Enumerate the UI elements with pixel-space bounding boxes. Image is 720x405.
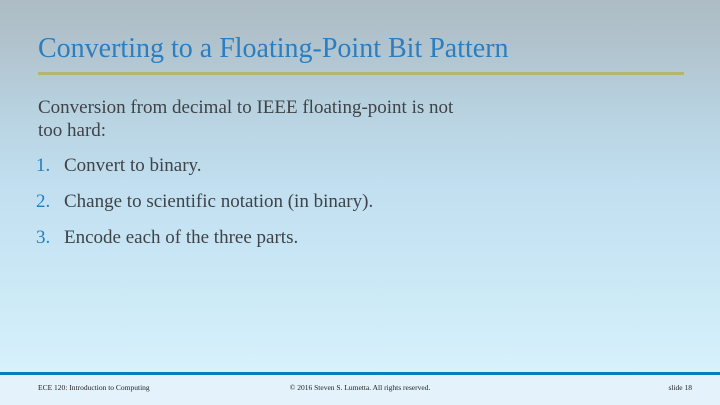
list-marker: 3.: [36, 226, 64, 249]
list-marker: 2.: [36, 190, 64, 213]
slide-canvas: Converting to a Floating-Point Bit Patte…: [0, 0, 720, 405]
list-marker: 1.: [36, 154, 64, 177]
list-item-label: Encode each of the three parts.: [64, 226, 298, 249]
list-item: 1. Convert to binary.: [36, 154, 676, 177]
footer-slide-number: slide 18: [668, 383, 692, 393]
title-underline-rule: [38, 72, 684, 75]
list-item-label: Change to scientific notation (in binary…: [64, 190, 373, 213]
intro-paragraph: Conversion from decimal to IEEE floating…: [36, 96, 468, 142]
steps-list: 1. Convert to binary. 2. Change to scien…: [36, 154, 676, 249]
list-item: 2. Change to scientific notation (in bin…: [36, 190, 676, 213]
page-title: Converting to a Floating-Point Bit Patte…: [38, 32, 688, 66]
list-item-label: Convert to binary.: [64, 154, 202, 177]
list-item: 3. Encode each of the three parts.: [36, 226, 676, 249]
slide-footer: ECE 120: Introduction to Computing © 201…: [0, 375, 720, 405]
footer-copyright: © 2016 Steven S. Lumetta. All rights res…: [0, 383, 720, 393]
slide-body: Conversion from decimal to IEEE floating…: [36, 96, 676, 262]
